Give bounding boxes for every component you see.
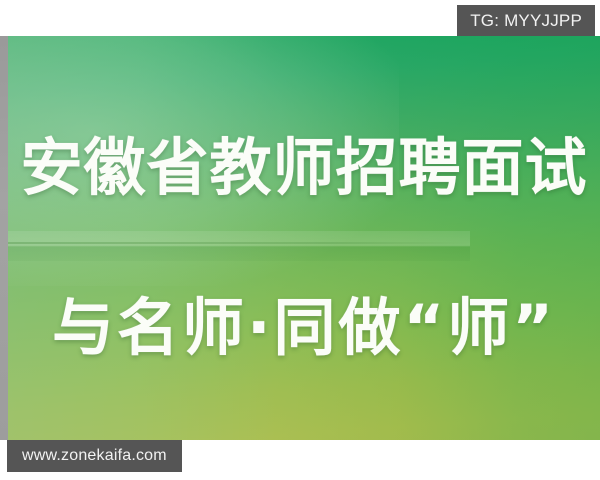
image-left-edge-strip	[0, 36, 8, 440]
screenshot-canvas: 安徽省教师招聘面试 与名师·同做“师” TG: MYYJJPP www.zone…	[0, 0, 600, 480]
poster-headline: 安徽省教师招聘面试 与名师·同做“师”	[8, 36, 600, 440]
website-watermark-badge: www.zonekaifa.com	[7, 440, 182, 472]
poster-image: 安徽省教师招聘面试 与名师·同做“师”	[8, 36, 600, 440]
headline-line-1: 安徽省教师招聘面试	[8, 132, 600, 204]
headline-line-2: 与名师·同做“师”	[8, 292, 600, 364]
telegram-handle-badge: TG: MYYJJPP	[457, 5, 595, 36]
